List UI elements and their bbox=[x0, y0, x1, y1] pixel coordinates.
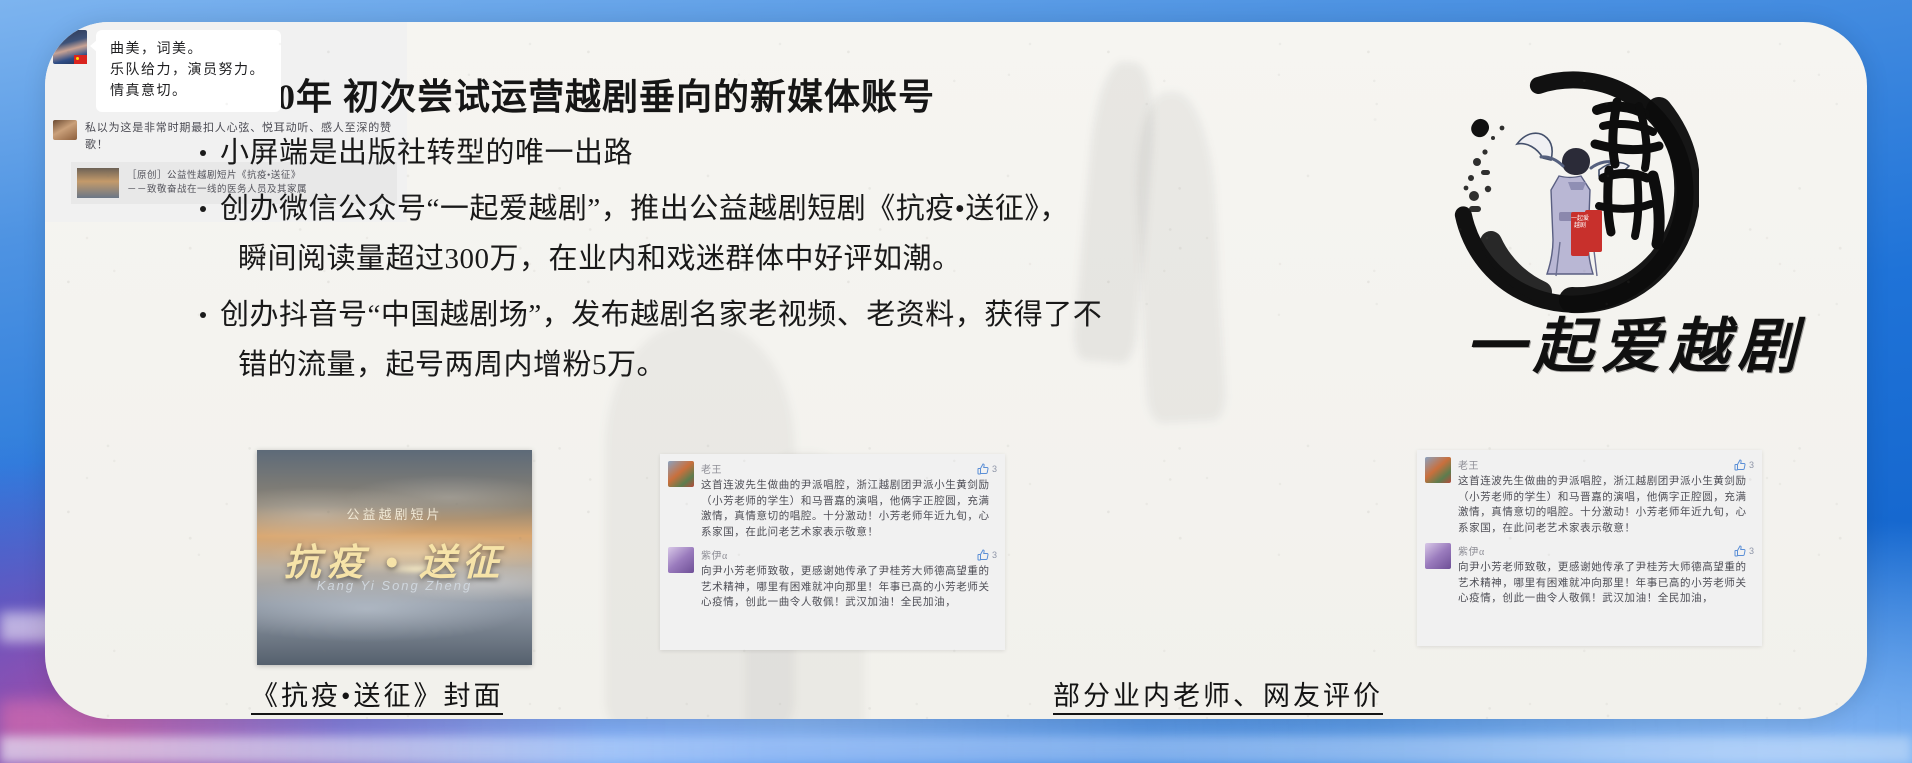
avatar bbox=[668, 461, 694, 487]
cover-caption-text: 《抗疫•送征》封面 bbox=[251, 681, 503, 715]
bullet-list: 小屏端是出版社转型的唯一出路 创办微信公众号“一起爱越剧”，推出公益越剧短剧《抗… bbox=[200, 128, 1150, 390]
flag-icon bbox=[74, 55, 87, 64]
page-title: 2020年 初次尝试运营越剧垂向的新媒体账号 bbox=[220, 68, 1150, 120]
avatar bbox=[668, 547, 694, 573]
bullet-item-1: 小屏端是出版社转型的唯一出路 bbox=[200, 128, 1150, 178]
thumbs-up-icon[interactable] bbox=[1734, 545, 1746, 557]
bullet-dot-icon bbox=[200, 312, 206, 318]
paper-card: 2020年 初次尝试运营越剧垂向的新媒体账号 小屏端是出版社转型的唯一出路 创办… bbox=[45, 22, 1867, 719]
like-group[interactable]: 3 bbox=[1734, 459, 1754, 471]
bullet-line: 创办微信公众号“一起爱越剧”，推出公益越剧短剧《抗疫•送征》， bbox=[220, 193, 1069, 225]
ink-circle-logo-icon bbox=[1447, 66, 1699, 318]
bullet-item-3: 创办抖音号“中国越剧场”，发布越剧名家老视频、老资料，获得了不 错的流量，起号两… bbox=[200, 290, 1150, 390]
comment-author: 紫伊α bbox=[701, 547, 728, 562]
chat-bubble: 曲美，词美。 乐队给力，演员努力。 情真意切。 bbox=[96, 30, 281, 112]
bullet-line: 创办抖音号“中国越剧场”，发布越剧名家老视频、老资料，获得了不 bbox=[220, 299, 1102, 331]
avatar bbox=[53, 120, 77, 140]
comment-text: 向尹小芳老师致敬，更感谢她传承了尹桂芳大师德高望重的艺术精神，哪里有困难就冲向那… bbox=[701, 564, 997, 611]
cover-pinyin: Kang Yi Song Zheng bbox=[257, 578, 532, 593]
thumbs-up-icon[interactable] bbox=[1734, 459, 1746, 471]
avatar bbox=[1425, 457, 1451, 483]
like-group[interactable]: 3 bbox=[977, 549, 997, 561]
like-count: 3 bbox=[992, 464, 997, 474]
comment-panel-left[interactable]: 老王 3 这首连波先生做曲的尹派唱腔，浙江越剧团尹派小生黄剑励（小芳老师的学生）… bbox=[660, 454, 1005, 650]
like-count: 3 bbox=[992, 550, 997, 560]
chat-line: 乐队给力，演员努力。 bbox=[110, 60, 265, 81]
brand-logo: 一起爱越剧 一起爱越剧 bbox=[1425, 60, 1845, 370]
comment-text: 这首连波先生做曲的尹派唱腔，浙江越剧团尹派小生黄剑励（小芳老师的学生）和马晋嘉的… bbox=[701, 478, 997, 540]
avatar bbox=[53, 30, 87, 64]
cover-subtitle: 公益越剧短片 bbox=[257, 504, 532, 523]
chat-line: 曲美，词美。 bbox=[110, 39, 265, 60]
comment-item: 老王 3 这首连波先生做曲的尹派唱腔，浙江越剧团尹派小生黄剑励（小芳老师的学生）… bbox=[660, 454, 1005, 540]
like-group[interactable]: 3 bbox=[977, 463, 997, 475]
comment-author: 老王 bbox=[1458, 457, 1479, 472]
bullet-item-2: 创办微信公众号“一起爱越剧”，推出公益越剧短剧《抗疫•送征》， 瞬间阅读量超过3… bbox=[200, 184, 1150, 284]
comment-item: 老王 3 这首连波先生做曲的尹派唱腔，浙江越剧团尹派小生黄剑励（小芳老师的学生）… bbox=[1417, 450, 1762, 536]
comment-item: 紫伊α 3 向尹小芳老师致敬，更感谢她传承了尹桂芳大师德高望重的艺术精神，哪里有… bbox=[1417, 536, 1762, 607]
comments-caption: 部分业内老师、网友评价 bbox=[1053, 674, 1383, 713]
brand-slogan: 一起爱越剧 bbox=[1415, 298, 1855, 385]
comments-caption-text: 部分业内老师、网友评价 bbox=[1053, 681, 1383, 715]
like-count: 3 bbox=[1749, 460, 1754, 470]
video-cover-image[interactable]: 公益越剧短片 抗疫 • 送征 Kang Yi Song Zheng bbox=[257, 450, 532, 665]
comment-text: 这首连波先生做曲的尹派唱腔，浙江越剧团尹派小生黄剑励（小芳老师的学生）和马晋嘉的… bbox=[1458, 474, 1754, 536]
bullet-dot-icon bbox=[200, 150, 206, 156]
article-thumbnail bbox=[77, 168, 119, 198]
seal-stamp: 一起爱越剧 bbox=[1571, 212, 1589, 256]
bullet-line: 小屏端是出版社转型的唯一出路 bbox=[220, 137, 633, 169]
comment-panel-right[interactable]: 老王 3 这首连波先生做曲的尹派唱腔，浙江越剧团尹派小生黄剑励（小芳老师的学生）… bbox=[1417, 450, 1762, 646]
comment-item: 紫伊α 3 向尹小芳老师致敬，更感谢她传承了尹桂芳大师德高望重的艺术精神，哪里有… bbox=[660, 540, 1005, 611]
slide-root: 2020年 初次尝试运营越剧垂向的新媒体账号 小屏端是出版社转型的唯一出路 创办… bbox=[0, 0, 1912, 763]
like-group[interactable]: 3 bbox=[1734, 545, 1754, 557]
comment-author: 老王 bbox=[701, 461, 722, 476]
background-bottom-band bbox=[0, 736, 1912, 763]
bullet-line: 错的流量，起号两周内增粉5万。 bbox=[220, 340, 1150, 390]
thumbs-up-icon[interactable] bbox=[977, 549, 989, 561]
chat-line: 情真意切。 bbox=[110, 81, 265, 102]
cover-caption: 《抗疫•送征》封面 bbox=[251, 674, 503, 713]
thumbs-up-icon[interactable] bbox=[977, 463, 989, 475]
bullet-line: 瞬间阅读量超过300万，在业内和戏迷群体中好评如潮。 bbox=[220, 234, 1150, 284]
avatar bbox=[1425, 543, 1451, 569]
content-column: 2020年 初次尝试运营越剧垂向的新媒体账号 小屏端是出版社转型的唯一出路 创办… bbox=[200, 68, 1150, 396]
comment-text: 向尹小芳老师致敬，更感谢她传承了尹桂芳大师德高望重的艺术精神，哪里有困难就冲向那… bbox=[1458, 560, 1754, 607]
bullet-dot-icon bbox=[200, 206, 206, 212]
comment-author: 紫伊α bbox=[1458, 543, 1485, 558]
like-count: 3 bbox=[1749, 546, 1754, 556]
